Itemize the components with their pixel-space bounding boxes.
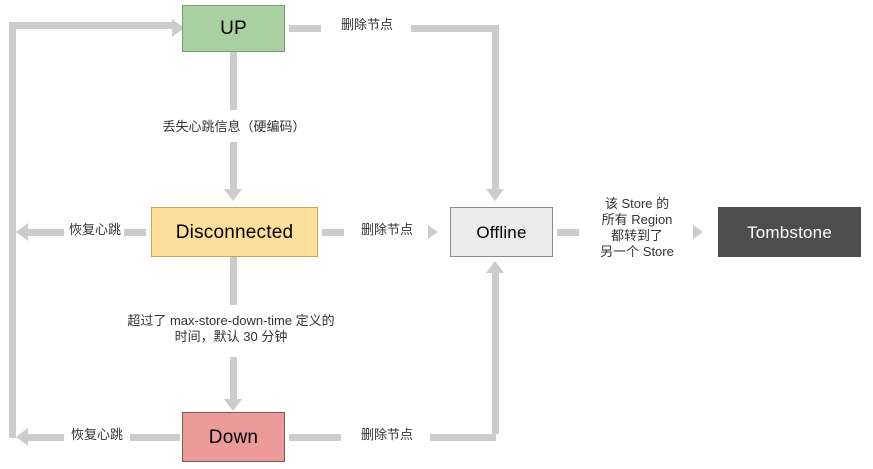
edge-label-down-to-offline: 删除节点	[351, 427, 423, 443]
state-node-up[interactable]: UP	[182, 5, 285, 52]
state-node-offline[interactable]: Offline	[450, 207, 553, 257]
edge-label-disconnected-to-up: 恢复心跳	[68, 222, 122, 238]
edge-up-to-disconnected-arrowhead	[224, 189, 242, 201]
edge-up-to-offline-vertical	[492, 25, 499, 189]
edge-offline-to-tombstone-stub	[557, 229, 579, 236]
edge-disconnected-to-down-arrowhead	[224, 399, 242, 411]
edge-down-to-offline-arrowhead	[486, 261, 504, 273]
edge-label-line-1: 该 Store 的	[587, 196, 687, 212]
edge-up-to-disconnected-lower	[230, 142, 237, 189]
edge-left-return-top	[9, 22, 175, 29]
edge-up-to-disconnected-upper	[230, 52, 237, 110]
state-node-disconnected[interactable]: Disconnected	[151, 207, 318, 257]
state-diagram-canvas: 删除节点 丢失心跳信息（硬编码） 删除节点 恢复心跳 超过了 max-store…	[0, 0, 873, 469]
edge-disconnected-to-up-stub	[124, 229, 146, 236]
edge-label-line-1: 超过了 max-store-down-time 定义的	[106, 313, 356, 329]
edge-label-up-to-offline: 删除节点	[331, 17, 403, 33]
edge-up-to-offline-horizontal	[411, 25, 499, 32]
edge-disconnected-to-offline-arrowhead	[428, 225, 438, 239]
edge-offline-to-tombstone-arrowhead	[693, 225, 703, 239]
edge-down-to-up-horizontal	[28, 434, 64, 441]
edge-up-to-offline-stub	[289, 25, 321, 32]
edge-label-disconnected-to-down: 超过了 max-store-down-time 定义的 时间，默认 30 分钟	[106, 313, 356, 345]
edge-disconnected-to-up-arrowhead	[16, 223, 28, 241]
state-node-tombstone[interactable]: Tombstone	[718, 207, 861, 257]
edge-label-disconnected-to-offline: 删除节点	[351, 222, 423, 238]
edge-down-to-offline-horizontal	[430, 434, 496, 441]
edge-disconnected-to-offline-stub	[322, 229, 344, 236]
edge-label-line-2: 时间，默认 30 分钟	[106, 329, 356, 345]
edge-label-offline-to-tombstone: 该 Store 的 所有 Region 都转到了 另一个 Store	[587, 196, 687, 260]
edge-disconnected-to-down-lower	[230, 357, 237, 399]
edge-down-to-offline-vertical	[492, 273, 499, 434]
edge-up-to-offline-arrowhead	[486, 189, 504, 201]
edge-disconnected-to-down-upper	[230, 257, 237, 305]
edge-left-return-spine	[9, 22, 16, 438]
edge-disconnected-to-up-horizontal	[28, 229, 64, 236]
edge-label-up-to-disconnected: 丢失心跳信息（硬编码）	[144, 119, 324, 135]
edge-label-line-3: 都转到了	[587, 228, 687, 244]
edge-label-line-4: 另一个 Store	[587, 244, 687, 260]
state-node-down[interactable]: Down	[182, 412, 285, 462]
edge-label-down-to-up: 恢复心跳	[70, 427, 124, 443]
edge-down-to-up-stub	[130, 434, 180, 441]
edge-label-line-2: 所有 Region	[587, 212, 687, 228]
edge-down-to-up-arrowhead	[16, 428, 28, 446]
edge-down-to-offline-stub	[289, 434, 341, 441]
